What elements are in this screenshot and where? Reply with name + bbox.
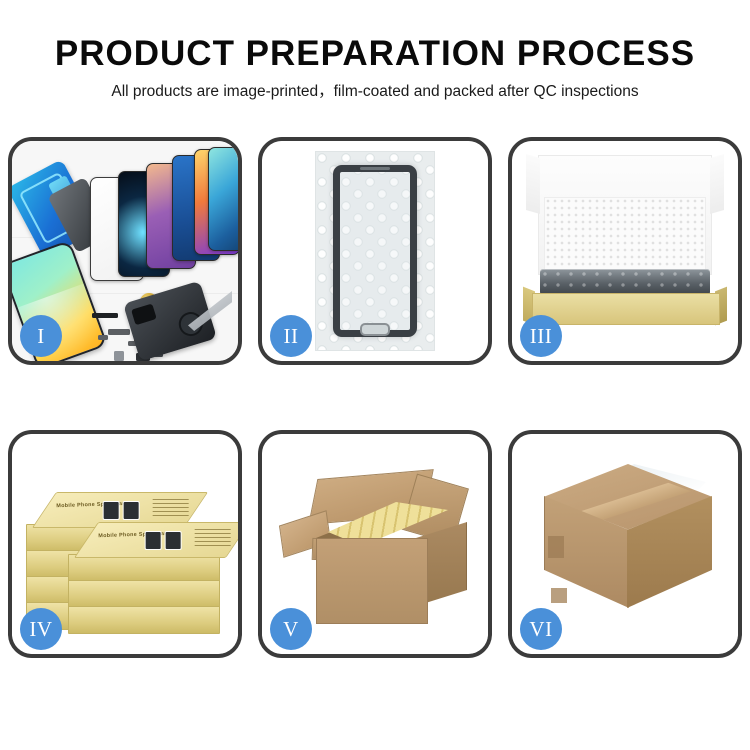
sealed-carton-graphic — [526, 460, 724, 638]
step-card-3: III — [508, 137, 742, 365]
open-carton-graphic — [278, 468, 474, 634]
step-card-6: VI — [508, 430, 742, 658]
step-badge-6: VI — [520, 608, 562, 650]
step-card-4: Mobile Phone Spare Parts Mobile Phone Sp… — [8, 430, 242, 658]
step-badge-1: I — [20, 315, 62, 357]
page-header: PRODUCT PREPARATION PROCESS All products… — [0, 0, 750, 103]
step-badge-3: III — [520, 315, 562, 357]
step-badge-4: IV — [20, 608, 62, 650]
process-steps-grid: I II III — [8, 137, 742, 658]
step-badge-5: V — [270, 608, 312, 650]
step-card-2: II — [258, 137, 492, 365]
step-card-5: V — [258, 430, 492, 658]
foam-pad-graphic — [544, 197, 706, 271]
page-title: PRODUCT PREPARATION PROCESS — [0, 34, 750, 74]
packed-product-graphic — [540, 269, 710, 295]
retail-box-lid-lower: Mobile Phone Spare Parts — [74, 522, 238, 558]
step-badge-2: II — [270, 315, 312, 357]
step-card-1: I — [8, 137, 242, 365]
page-subtitle: All products are image-printed，film-coat… — [0, 81, 750, 103]
kraft-box-front-graphic — [532, 293, 720, 325]
screen-glass-graphic — [333, 165, 417, 337]
